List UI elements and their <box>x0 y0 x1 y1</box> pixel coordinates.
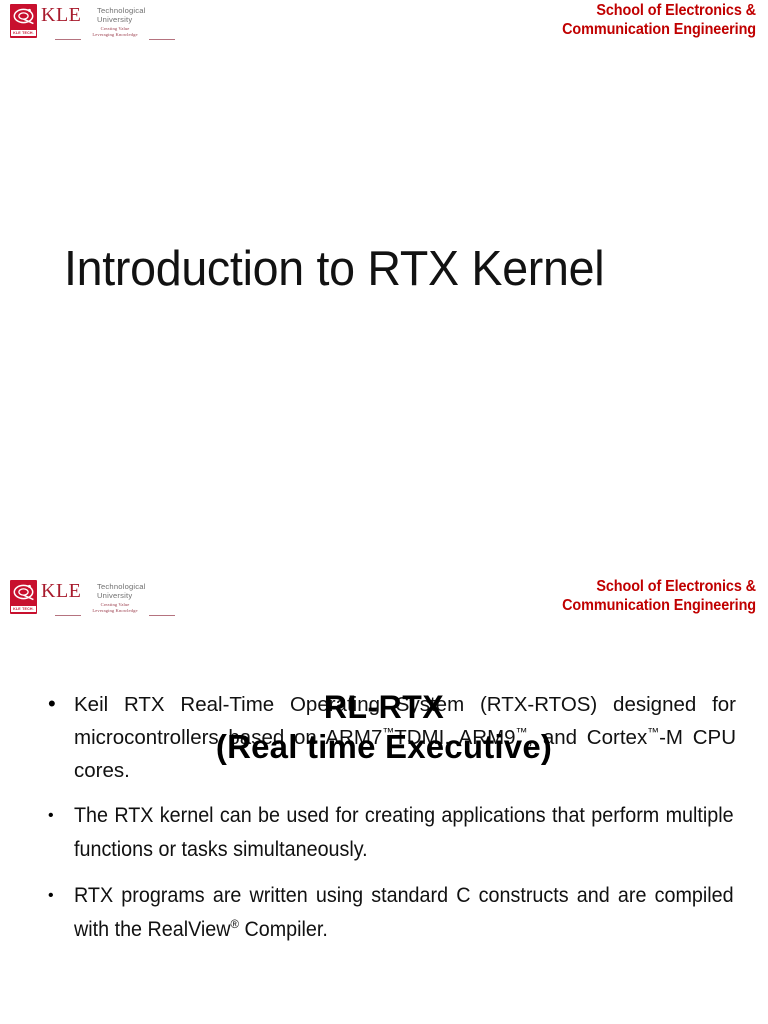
bullet-3-part-1: RTX programs are written using standard … <box>74 884 734 941</box>
department-title-line2: Communication Engineering <box>477 596 756 615</box>
department-title-line1: School of Electronics & <box>477 577 756 596</box>
bullet-marker-icon: • <box>48 879 54 913</box>
kle-university-line2: University <box>97 591 175 600</box>
kle-university-line1: Technological <box>97 6 175 15</box>
bullet-marker-icon: • <box>48 688 56 720</box>
department-title: School of Electronics & Communication En… <box>477 577 756 615</box>
bullet-1-part-3: , and Cortex <box>527 726 647 749</box>
kle-university-logo: KLE TECH. KLE Technological University C… <box>10 580 175 618</box>
presentation-page: { "brand": { "logo_mark_text": "KLE TECH… <box>0 0 768 1024</box>
bullet-text: RTX programs are written using standard … <box>74 879 734 947</box>
kle-tagline: Creating Value Leveraging Knowledge <box>55 602 175 614</box>
kle-swirl-icon <box>13 7 34 25</box>
bullet-1-trademark-1: ™ <box>382 725 394 739</box>
bullet-text: Keil RTX Real-Time Operating System (RTX… <box>74 688 736 787</box>
kle-wordmark-university: Technological University <box>97 6 175 25</box>
kle-university-line1: Technological <box>97 582 175 591</box>
kle-tagline-rule-right <box>149 39 175 40</box>
department-title-line2: Communication Engineering <box>477 20 756 39</box>
kle-wordmark-university: Technological University <box>97 582 175 601</box>
bullet-1-trademark-2: ™ <box>516 725 528 739</box>
kle-tagline-line2: Leveraging Knowledge <box>55 32 175 38</box>
kle-swirl-icon <box>13 583 34 601</box>
slide-header: KLE TECH. KLE Technological University C… <box>0 0 768 48</box>
kle-tagline-rule-left <box>55 39 81 40</box>
bullet-text: The RTX kernel can be used for creating … <box>74 799 734 867</box>
title-slide: KLE TECH. KLE Technological University C… <box>0 0 768 576</box>
bullet-1-part-2: TDMI, ARM9 <box>394 726 515 749</box>
kle-wordmark-kle: KLE <box>41 5 81 25</box>
bullet-marker-icon: • <box>48 799 54 833</box>
bullet-3-part-2: Compiler. <box>239 918 328 941</box>
kle-tagline-rule-right <box>149 615 175 616</box>
bullet-list: • Keil RTX Real-Time Operating System (R… <box>36 688 736 959</box>
kle-wordmark: KLE Technological University Creating Va… <box>41 4 175 42</box>
kle-tech-tag: KLE TECH. <box>11 30 36 36</box>
slide-header: KLE TECH. KLE Technological University C… <box>0 576 768 624</box>
department-title: School of Electronics & Communication En… <box>477 1 756 39</box>
department-title-line1: School of Electronics & <box>477 1 756 20</box>
list-item: • The RTX kernel can be used for creatin… <box>36 799 736 867</box>
kle-wordmark-kle: KLE <box>41 581 81 601</box>
kle-tech-tag: KLE TECH. <box>11 606 36 612</box>
bullet-1-trademark-3: ™ <box>647 725 659 739</box>
kle-logo-mark-icon: KLE TECH. <box>10 580 37 614</box>
kle-university-logo: KLE TECH. KLE Technological University C… <box>10 4 175 42</box>
list-item: • RTX programs are written using standar… <box>36 879 736 947</box>
kle-tagline: Creating Value Leveraging Knowledge <box>55 26 175 38</box>
kle-wordmark: KLE Technological University Creating Va… <box>41 580 175 618</box>
kle-tagline-line2: Leveraging Knowledge <box>55 608 175 614</box>
content-slide: KLE TECH. KLE Technological University C… <box>0 576 768 1024</box>
kle-university-line2: University <box>97 15 175 24</box>
kle-tagline-rule-left <box>55 615 81 616</box>
kle-logo-mark-icon: KLE TECH. <box>10 4 37 38</box>
bullet-3-registered-mark: ® <box>231 917 239 931</box>
list-item: • Keil RTX Real-Time Operating System (R… <box>36 688 736 787</box>
slide-title-heading: Introduction to RTX Kernel <box>64 238 680 300</box>
